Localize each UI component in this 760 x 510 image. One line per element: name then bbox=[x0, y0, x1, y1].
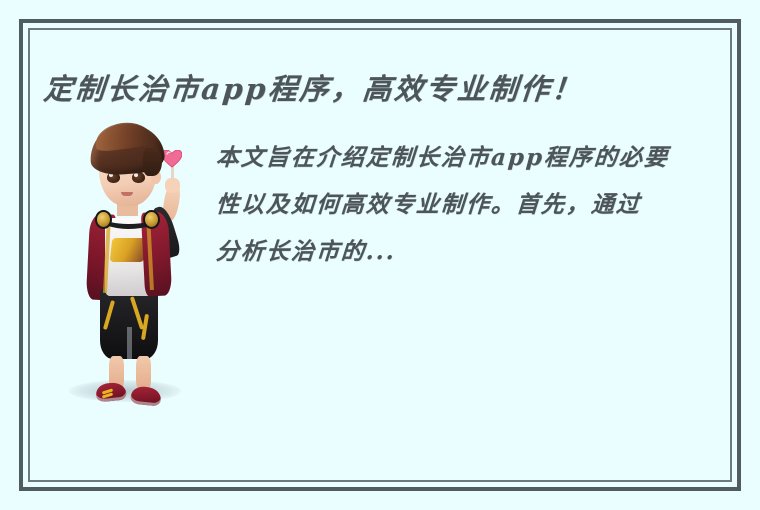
character-hand bbox=[165, 178, 180, 193]
character-hair-sidecut bbox=[143, 148, 162, 176]
article-title: 定制长治市app程序，高效专业制作！ bbox=[42, 63, 722, 111]
character-leg-right bbox=[136, 356, 151, 390]
chibi-boy-illustration bbox=[55, 122, 205, 417]
tshirt-graphic-print bbox=[110, 238, 147, 262]
shorts-leg-split bbox=[127, 327, 132, 361]
eye-highlight-right bbox=[134, 173, 138, 177]
article-card: 定制长治市app程序，高效专业制作！ bbox=[0, 0, 760, 510]
heart-lollipop-icon bbox=[162, 150, 182, 168]
summary-line: 分析长治市的... bbox=[214, 228, 729, 275]
headphone-earcup-right-icon bbox=[143, 210, 160, 229]
headphone-earcup-left-icon bbox=[95, 210, 112, 229]
summary-line: 本文旨在介绍定制长治市app程序的必要 bbox=[214, 134, 729, 181]
article-summary: 本文旨在介绍定制长治市app程序的必要 性以及如何高效专业制作。首先，通过 分析… bbox=[216, 134, 728, 275]
summary-line: 性以及如何高效专业制作。首先，通过 bbox=[214, 181, 729, 228]
